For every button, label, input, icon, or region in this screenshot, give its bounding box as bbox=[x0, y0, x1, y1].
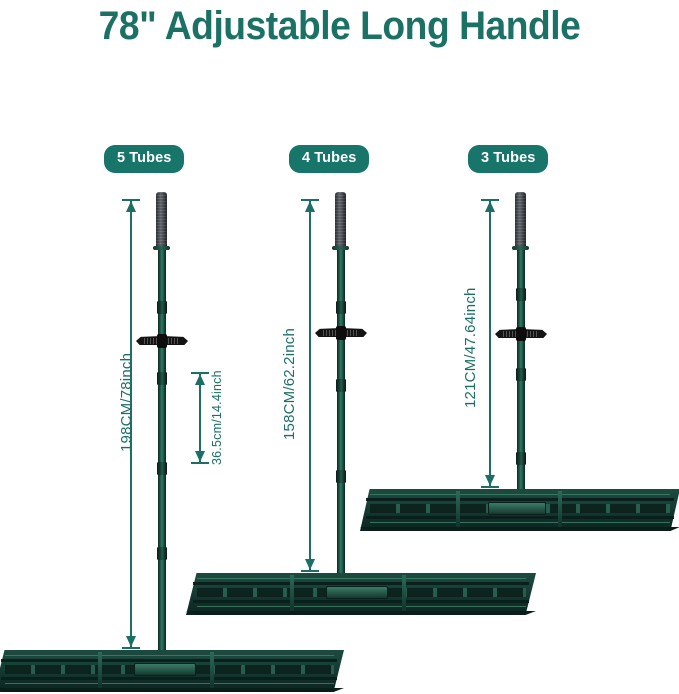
base-center-hub bbox=[326, 586, 388, 599]
pole-joint-collar bbox=[516, 368, 526, 381]
dimension-label-height-5-tubes: 198CM/78inch bbox=[118, 353, 135, 452]
dimension-arrow-up bbox=[305, 201, 315, 212]
base-rail bbox=[193, 582, 529, 585]
pole-joint-collar bbox=[336, 379, 346, 392]
dimension-line-height-3-tubes bbox=[484, 199, 496, 488]
base-highlight bbox=[197, 606, 526, 607]
dimension-arrow-down bbox=[485, 475, 495, 486]
dimension-line-height-4-tubes bbox=[304, 199, 316, 572]
base-rack-5-tubes bbox=[0, 650, 344, 692]
dimension-cap-bottom bbox=[481, 486, 499, 488]
dimension-arrow-down bbox=[305, 559, 315, 570]
dimension-label-height-3-tubes: 121CM/47.64inch bbox=[462, 287, 479, 408]
base-crossbar bbox=[98, 652, 102, 691]
dimension-arrow-up bbox=[485, 201, 495, 212]
dimension-cap-bottom bbox=[301, 570, 319, 572]
product-infographic: 78" Adjustable Long Handle 5 Tubes 198CM… bbox=[0, 0, 679, 694]
dimension-arrow-up bbox=[126, 201, 136, 212]
dimension-arrow-down bbox=[126, 636, 136, 647]
base-rail bbox=[366, 498, 673, 501]
dimension-stem bbox=[489, 199, 491, 488]
clamp-hub bbox=[516, 327, 526, 341]
base-highlight bbox=[5, 683, 334, 684]
clamp-hub bbox=[157, 334, 167, 348]
base-center-hub bbox=[488, 502, 546, 515]
adjustment-clamp-bracket bbox=[136, 334, 188, 348]
dimension-line-segment-5-tubes bbox=[194, 372, 206, 464]
pole-joint-collar bbox=[336, 470, 346, 483]
base-rail bbox=[1, 659, 337, 662]
adjustment-clamp-bracket bbox=[315, 326, 367, 340]
base-rail bbox=[193, 600, 529, 603]
base-center-hub bbox=[134, 663, 196, 676]
dimension-arrow-down bbox=[195, 451, 205, 462]
pole-joint-collar bbox=[157, 372, 167, 385]
base-crossbar bbox=[402, 575, 406, 614]
adjustment-clamp-bracket bbox=[495, 327, 547, 341]
handle-grip bbox=[515, 192, 526, 247]
dimension-stem bbox=[309, 199, 311, 572]
dimension-arrow-up bbox=[195, 374, 205, 385]
pole-shaft bbox=[337, 250, 345, 582]
base-rack-4-tubes bbox=[186, 573, 536, 615]
dimension-label-height-4-tubes: 158CM/62.2inch bbox=[281, 328, 298, 440]
base-highlight bbox=[5, 655, 334, 656]
base-crossbar bbox=[290, 575, 294, 614]
page-title: 78" Adjustable Long Handle bbox=[24, 4, 655, 49]
handle-grip bbox=[156, 192, 167, 247]
pole-joint-collar bbox=[516, 452, 526, 465]
pole-joint-collar bbox=[516, 288, 526, 301]
dimension-cap-bottom bbox=[122, 647, 140, 649]
pole-joint-collar bbox=[157, 462, 167, 475]
handle-grip bbox=[335, 192, 346, 247]
base-highlight bbox=[370, 494, 671, 495]
base-front-edge bbox=[0, 688, 344, 692]
base-highlight bbox=[197, 578, 526, 579]
clamp-hub bbox=[336, 326, 346, 340]
base-rail bbox=[366, 516, 673, 519]
dimension-cap-bottom bbox=[191, 462, 209, 464]
base-rack-3-tubes bbox=[360, 489, 679, 531]
badge-tube-count-5: 5 Tubes bbox=[104, 145, 184, 173]
pole-joint-collar bbox=[157, 301, 167, 314]
base-crossbar bbox=[456, 491, 460, 530]
pole-joint-collar bbox=[157, 547, 167, 560]
badge-tube-count-4: 4 Tubes bbox=[289, 145, 369, 173]
base-highlight bbox=[370, 522, 671, 523]
base-crossbar bbox=[210, 652, 214, 691]
base-front-edge bbox=[186, 611, 536, 615]
badge-tube-count-3: 3 Tubes bbox=[468, 145, 548, 173]
dimension-label-segment-5-tubes: 36.5cm/14.4inch bbox=[210, 370, 224, 465]
base-front-edge bbox=[360, 527, 679, 531]
pole-joint-collar bbox=[336, 301, 346, 314]
base-crossbar bbox=[558, 491, 562, 530]
base-rail bbox=[1, 677, 337, 680]
